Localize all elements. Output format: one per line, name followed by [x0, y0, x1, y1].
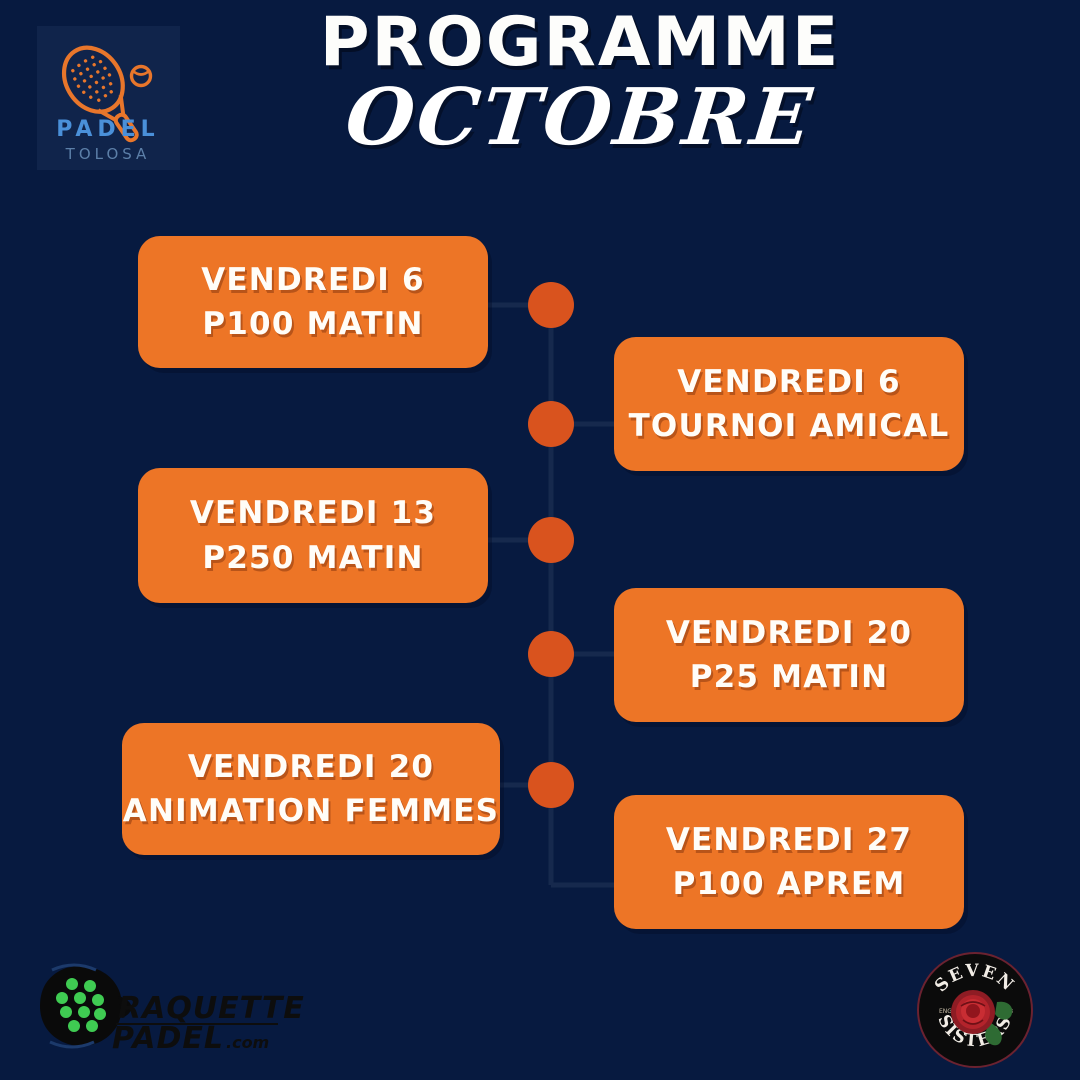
- event-detail-5: ANIMATION FEMMES: [123, 789, 499, 833]
- timeline-node-1: [528, 282, 574, 328]
- event-date-4: VENDREDI 20: [666, 611, 912, 655]
- logo-word-padel: PADEL: [56, 117, 159, 142]
- event-date-6: VENDREDI 27: [666, 818, 912, 862]
- title-octobre: OCTOBRE: [186, 79, 974, 157]
- event-card-3[interactable]: VENDREDI 13 P250 MATIN: [138, 468, 488, 603]
- event-detail-6: P100 APREM: [673, 862, 906, 906]
- timeline-node-5: [528, 762, 574, 808]
- raquette-padel-logo: RAQUETTE PADEL .com: [30, 956, 310, 1056]
- event-date-2: VENDREDI 6: [677, 360, 901, 404]
- event-detail-2: TOURNOI AMICAL: [629, 404, 950, 448]
- poster-root: PADEL TOLOSA PROGRAMME OCTOBRE: [0, 0, 1080, 1080]
- event-detail-4: P25 MATIN: [690, 655, 889, 699]
- event-card-1[interactable]: VENDREDI 6 P100 MATIN: [138, 236, 488, 368]
- seven-sisters-logo: SEVEN SISTERS ENGLISH PUB: [915, 950, 1035, 1070]
- event-card-5[interactable]: VENDREDI 20 ANIMATION FEMMES: [122, 723, 500, 855]
- page-title: PROGRAMME OCTOBRE: [190, 8, 970, 157]
- event-date-5: VENDREDI 20: [188, 745, 434, 789]
- event-card-4[interactable]: VENDREDI 20 P25 MATIN: [614, 588, 964, 722]
- event-detail-3: P250 MATIN: [202, 536, 423, 580]
- title-programme: PROGRAMME: [190, 8, 970, 77]
- raquette-word-bottom: PADEL: [112, 1021, 224, 1056]
- timeline: VENDREDI 6 P100 MATIN VENDREDI 6 TOURNOI…: [0, 210, 1080, 940]
- event-card-2[interactable]: VENDREDI 6 TOURNOI AMICAL: [614, 337, 964, 471]
- event-card-6[interactable]: VENDREDI 27 P100 APREM: [614, 795, 964, 929]
- logo-word-tolosa: TOLOSA: [65, 145, 151, 163]
- timeline-node-2: [528, 401, 574, 447]
- padel-tolosa-logo: PADEL TOLOSA: [37, 26, 180, 170]
- raquette-suffix: .com: [226, 1033, 269, 1052]
- event-detail-1: P100 MATIN: [202, 302, 423, 346]
- event-date-3: VENDREDI 13: [190, 491, 436, 535]
- timeline-node-3: [528, 517, 574, 563]
- event-date-1: VENDREDI 6: [201, 258, 425, 302]
- timeline-node-4: [528, 631, 574, 677]
